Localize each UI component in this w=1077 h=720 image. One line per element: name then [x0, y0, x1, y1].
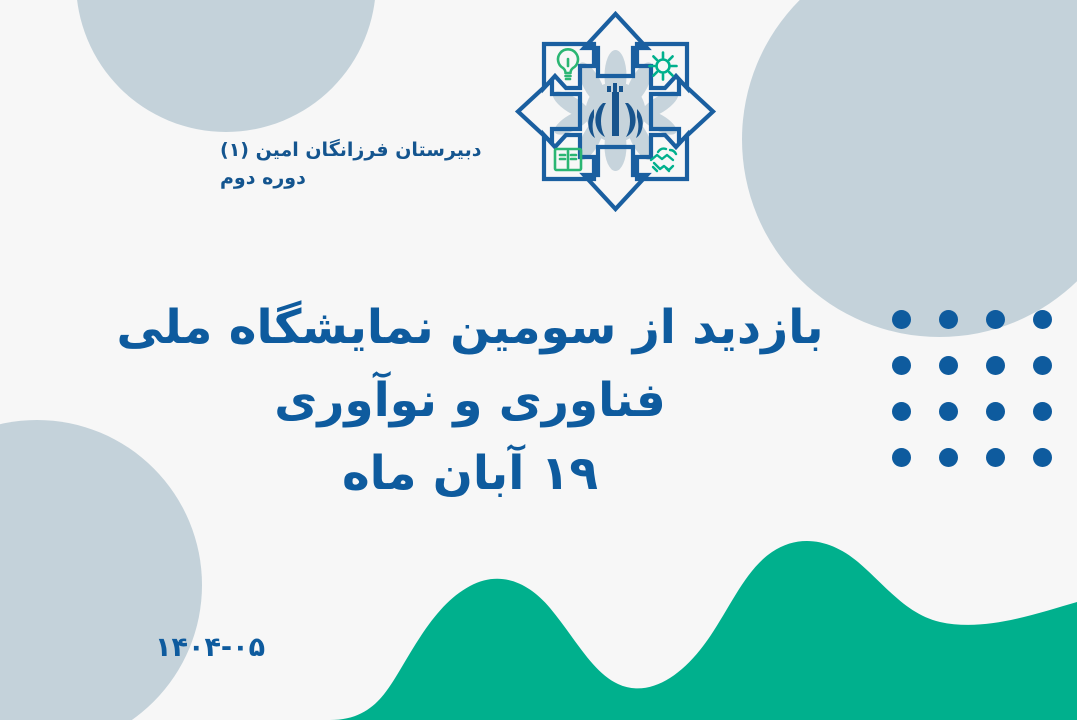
issue-code: ۱۴۰۴-۰۵ [155, 632, 265, 663]
gear-icon [650, 53, 677, 80]
poster-canvas: دبیرستان فرزانگان امین (۱) دوره دوم بازد… [0, 0, 1077, 720]
school-name: دبیرستان فرزانگان امین (۱) دوره دوم [220, 137, 550, 192]
grid-dot [939, 448, 958, 467]
grid-dot [939, 402, 958, 421]
school-name-line2: دوره دوم [220, 165, 550, 193]
grid-dot [986, 310, 1005, 329]
decorative-circle-top-right [742, 0, 1077, 337]
handshake-icon [651, 149, 676, 171]
grid-dot [1033, 356, 1052, 375]
grid-dot [986, 356, 1005, 375]
grid-dot [939, 310, 958, 329]
grid-dot [986, 402, 1005, 421]
title-line-1: بازدید از سومین نمایشگاه ملی [0, 292, 940, 365]
grid-dot [1033, 448, 1052, 467]
lightbulb-icon [558, 49, 578, 79]
page-title: بازدید از سومین نمایشگاه ملی فناوری و نو… [0, 292, 940, 511]
title-line-3: ۱۹ آبان ماه [0, 438, 940, 511]
grid-dot [939, 356, 958, 375]
decorative-green-wave [0, 490, 1077, 720]
decorative-circle-top-left [76, 0, 376, 132]
school-name-line1: دبیرستان فرزانگان امین (۱) [220, 137, 550, 165]
open-book-icon [555, 149, 581, 170]
grid-dot [1033, 402, 1052, 421]
grid-dot [986, 448, 1005, 467]
grid-dot [1033, 310, 1052, 329]
title-line-2: فناوری و نوآوری [0, 365, 940, 438]
